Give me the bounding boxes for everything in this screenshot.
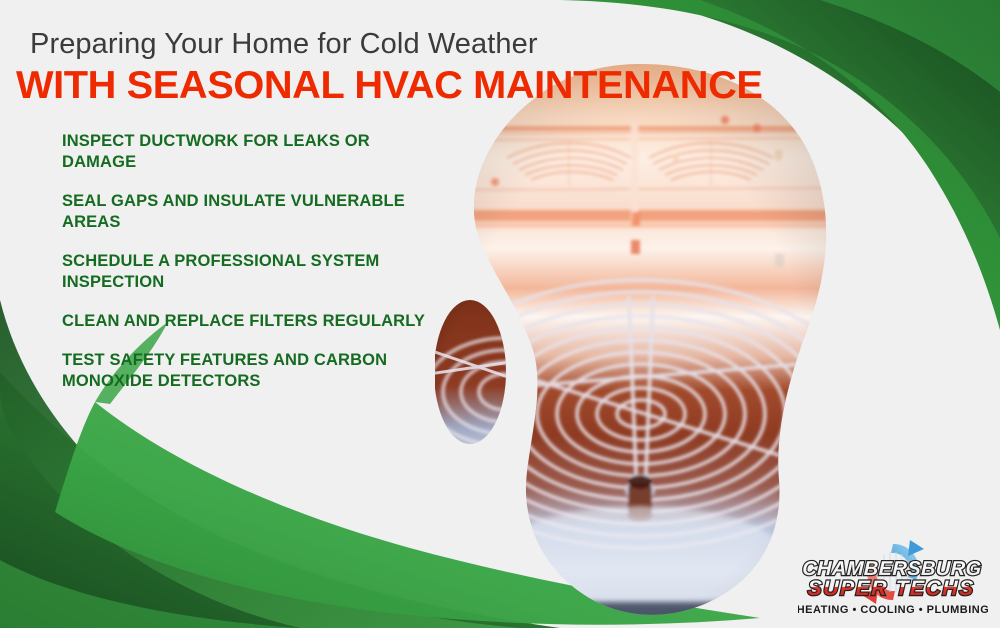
logo-tagline: HEATING • COOLING • PLUMBING — [798, 604, 988, 616]
page-title: WITH SEASONAL HVAC MAINTENANCE — [16, 64, 763, 108]
list-item: TEST SAFETY FEATURES AND CARBON MONOXIDE… — [62, 350, 432, 392]
list-item: SCHEDULE A PROFESSIONAL SYSTEM INSPECTIO… — [62, 251, 432, 293]
swoosh-top-right-edge — [820, 0, 1000, 92]
maintenance-tips-list: INSPECT DUCTWORK FOR LEAKS OR DAMAGE SEA… — [62, 131, 432, 392]
kicker-text: Preparing Your Home for Cold Weather — [30, 28, 538, 61]
infographic-poster: Preparing Your Home for Cold Weather WIT… — [0, 0, 1000, 628]
company-logo[interactable]: CHAMBERSBURG SUPER TECHS HEATING • COOLI… — [798, 538, 988, 620]
list-item: INSPECT DUCTWORK FOR LEAKS OR DAMAGE — [62, 131, 432, 173]
hvac-unit-photo — [435, 62, 835, 628]
list-item: SEAL GAPS AND INSULATE VULNERABLE AREAS — [62, 191, 432, 233]
logo-line2: SUPER TECHS — [807, 577, 975, 600]
list-item: CLEAN AND REPLACE FILTERS REGULARLY — [62, 311, 432, 332]
swoosh-bottom-sliver — [0, 560, 300, 628]
